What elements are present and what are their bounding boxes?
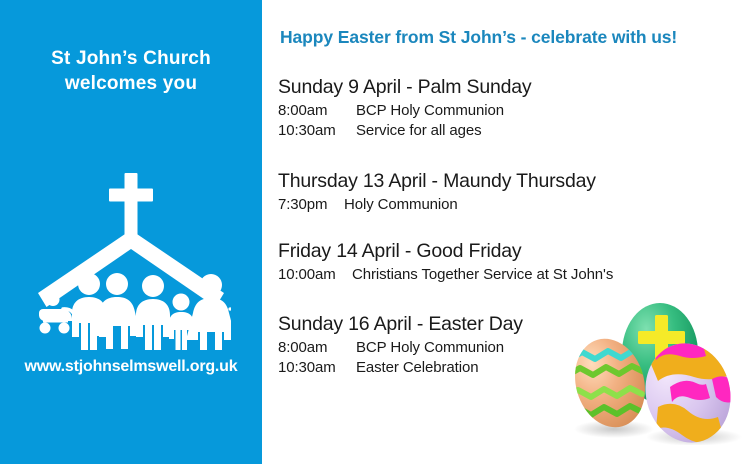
church-sidebar-panel: St John’s Church welcomes you (0, 0, 262, 464)
event-block: Sunday 16 April - Easter Day 8:00amBCP H… (278, 313, 523, 378)
event-title: Sunday 9 April - Palm Sunday (278, 76, 531, 99)
church-website-url[interactable]: www.stjohnselmswell.org.uk (0, 358, 262, 376)
event-title: Sunday 16 April - Easter Day (278, 313, 523, 336)
service-description: Service for all ages (356, 122, 482, 139)
service-time: 10:00am (278, 265, 352, 285)
service-description: Christians Together Service at St John's (352, 266, 613, 283)
adult-figure-2 (93, 273, 141, 349)
church-name-line-2: welcomes you (0, 71, 262, 96)
service-line: 10:00amChristians Together Service at St… (278, 265, 613, 285)
service-time: 10:30am (278, 121, 356, 141)
service-description: BCP Holy Communion (356, 102, 504, 119)
event-title: Thursday 13 April - Maundy Thursday (278, 170, 596, 193)
church-name-line-1: St John’s Church (0, 46, 262, 71)
service-description: BCP Holy Communion (356, 339, 504, 356)
easter-eggs-illustration (562, 295, 756, 445)
event-block: Sunday 9 April - Palm Sunday 8:00amBCP H… (278, 76, 531, 141)
service-time: 7:30pm (278, 195, 344, 215)
service-line: 7:30pmHoly Communion (278, 195, 596, 215)
cross-vertical (125, 173, 138, 239)
easter-service-poster: St John’s Church welcomes you (0, 0, 756, 464)
adult-figure-3 (136, 275, 170, 350)
event-block: Thursday 13 April - Maundy Thursday 7:30… (278, 170, 596, 215)
event-block: Friday 14 April - Good Friday 10:00amChr… (278, 240, 613, 285)
service-description: Holy Communion (344, 196, 458, 213)
service-line: 10:30amService for all ages (278, 121, 531, 141)
service-line: 8:00amBCP Holy Communion (278, 101, 531, 121)
easter-greeting-headline: Happy Easter from St John’s - celebrate … (280, 27, 677, 48)
service-description: Easter Celebration (356, 359, 478, 376)
church-name-heading: St John’s Church welcomes you (0, 46, 262, 96)
event-title: Friday 14 April - Good Friday (278, 240, 613, 263)
service-time: 8:00am (278, 101, 356, 121)
linked-hands-left (164, 318, 176, 322)
linked-hands-right (190, 318, 202, 322)
service-time: 8:00am (278, 338, 356, 358)
church-family-logo (31, 168, 231, 350)
service-listing-panel: Happy Easter from St John’s - celebrate … (262, 0, 756, 464)
service-line: 10:30amEaster Celebration (278, 358, 523, 378)
service-line: 8:00amBCP Holy Communion (278, 338, 523, 358)
service-time: 10:30am (278, 358, 356, 378)
cross-horizontal (109, 189, 153, 202)
